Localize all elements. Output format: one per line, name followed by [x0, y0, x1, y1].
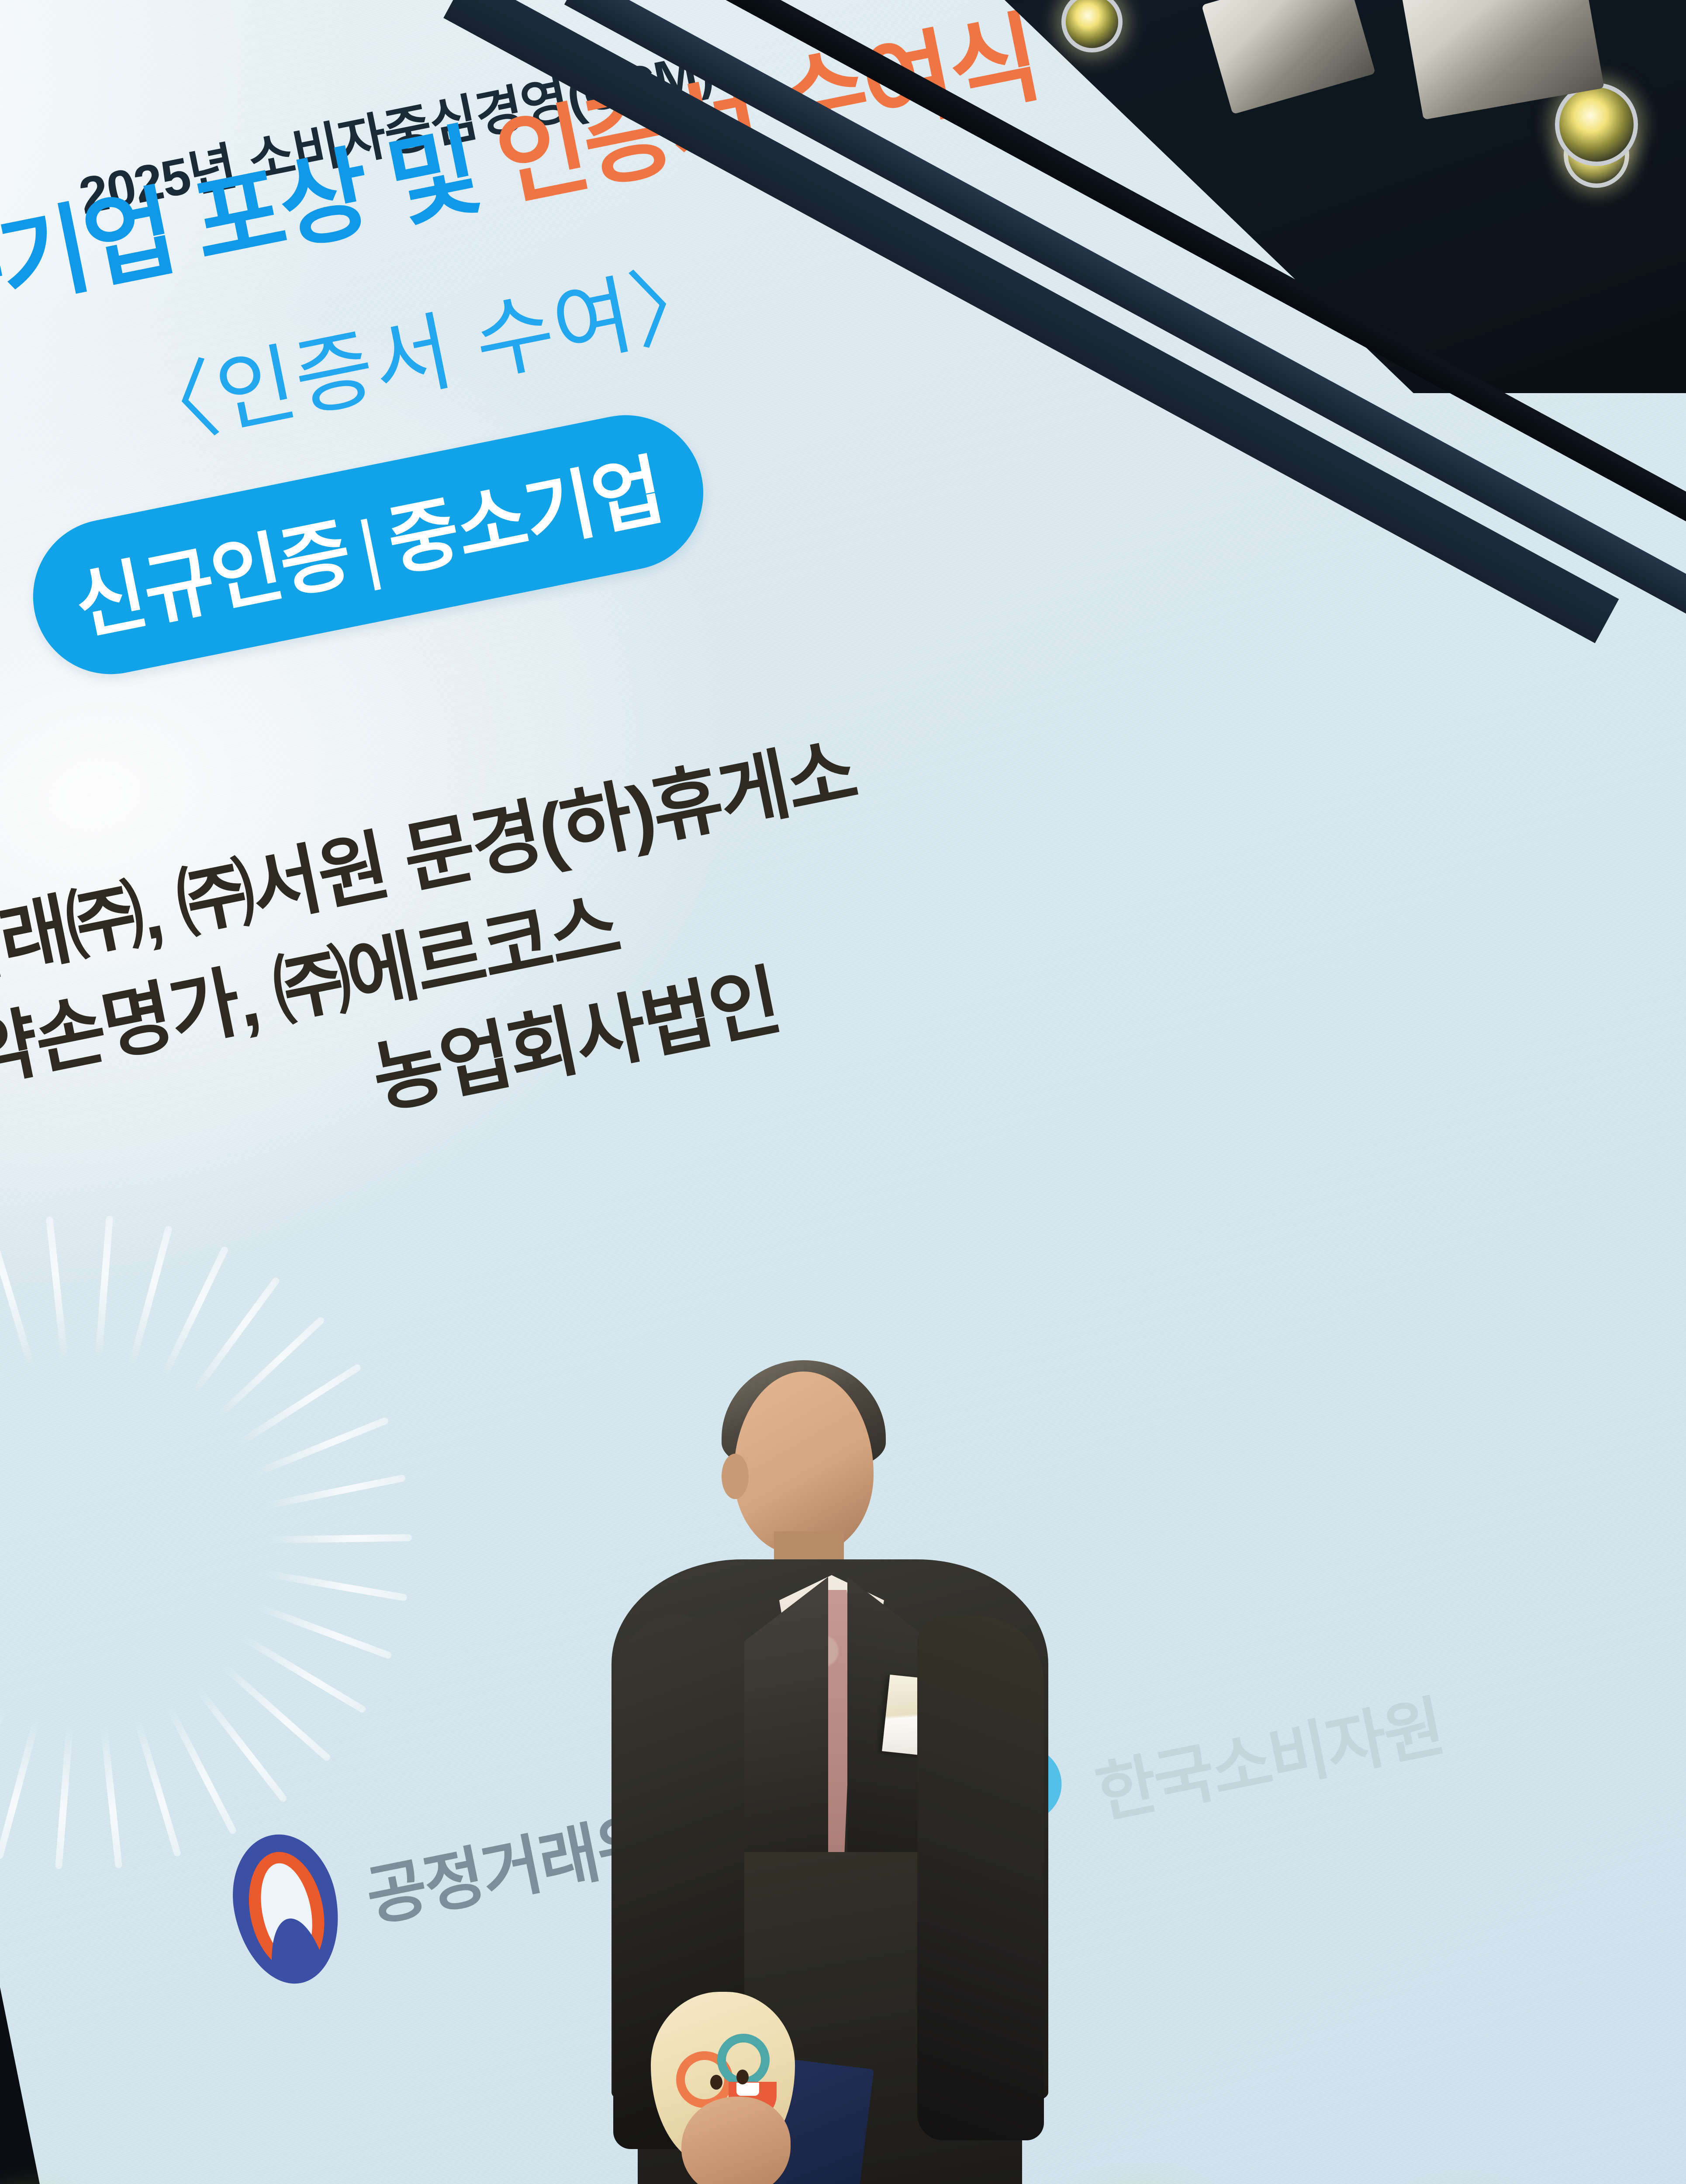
sunburst-ray — [165, 1704, 237, 1835]
sunburst-ray — [0, 1227, 35, 1368]
sunburst-ray — [0, 1719, 40, 1860]
sunburst-ray — [237, 1363, 362, 1446]
truss-lamp-icon — [1555, 83, 1638, 166]
sunburst-ray — [263, 1474, 406, 1510]
sunburst-ray — [95, 1216, 113, 1360]
sunburst-ray — [240, 1634, 367, 1714]
sunburst-ray — [100, 1724, 122, 1869]
photo-canvas: 2025년 소비자중심경영(CCM) 우수기업 포상 및 인증서 수여식 〈인증… — [0, 0, 1686, 2184]
badge-left-label: 신규인증 — [68, 511, 357, 650]
sunburst-ray — [190, 1276, 280, 1396]
sunburst-ray — [255, 1603, 393, 1660]
sunburst-ray — [134, 1717, 182, 1857]
sunburst-ray — [55, 1725, 73, 1869]
sunburst-ray — [160, 1246, 229, 1379]
sunburst-ray — [219, 1662, 332, 1762]
presenter-ear — [722, 1454, 749, 1499]
badge-right-label: 중소기업 — [381, 447, 670, 586]
taeguk-icon — [221, 1825, 352, 1993]
sunburst-ray — [128, 1225, 173, 1366]
sunburst-ray — [215, 1316, 325, 1419]
presenter-arm-right — [917, 1616, 1044, 2140]
sunburst-ray — [253, 1417, 389, 1477]
sunburst-ray — [264, 1570, 408, 1601]
presenter-figure — [603, 1372, 1057, 2184]
logo-kca-label: 한국소비자원 — [1087, 1673, 1450, 1836]
sunburst-ray — [0, 1250, 3, 1381]
sunburst-ray — [267, 1534, 411, 1543]
sunburst-ray — [46, 1216, 68, 1360]
sunburst-ray — [194, 1685, 288, 1803]
sunburst-ray — [0, 1706, 8, 1839]
